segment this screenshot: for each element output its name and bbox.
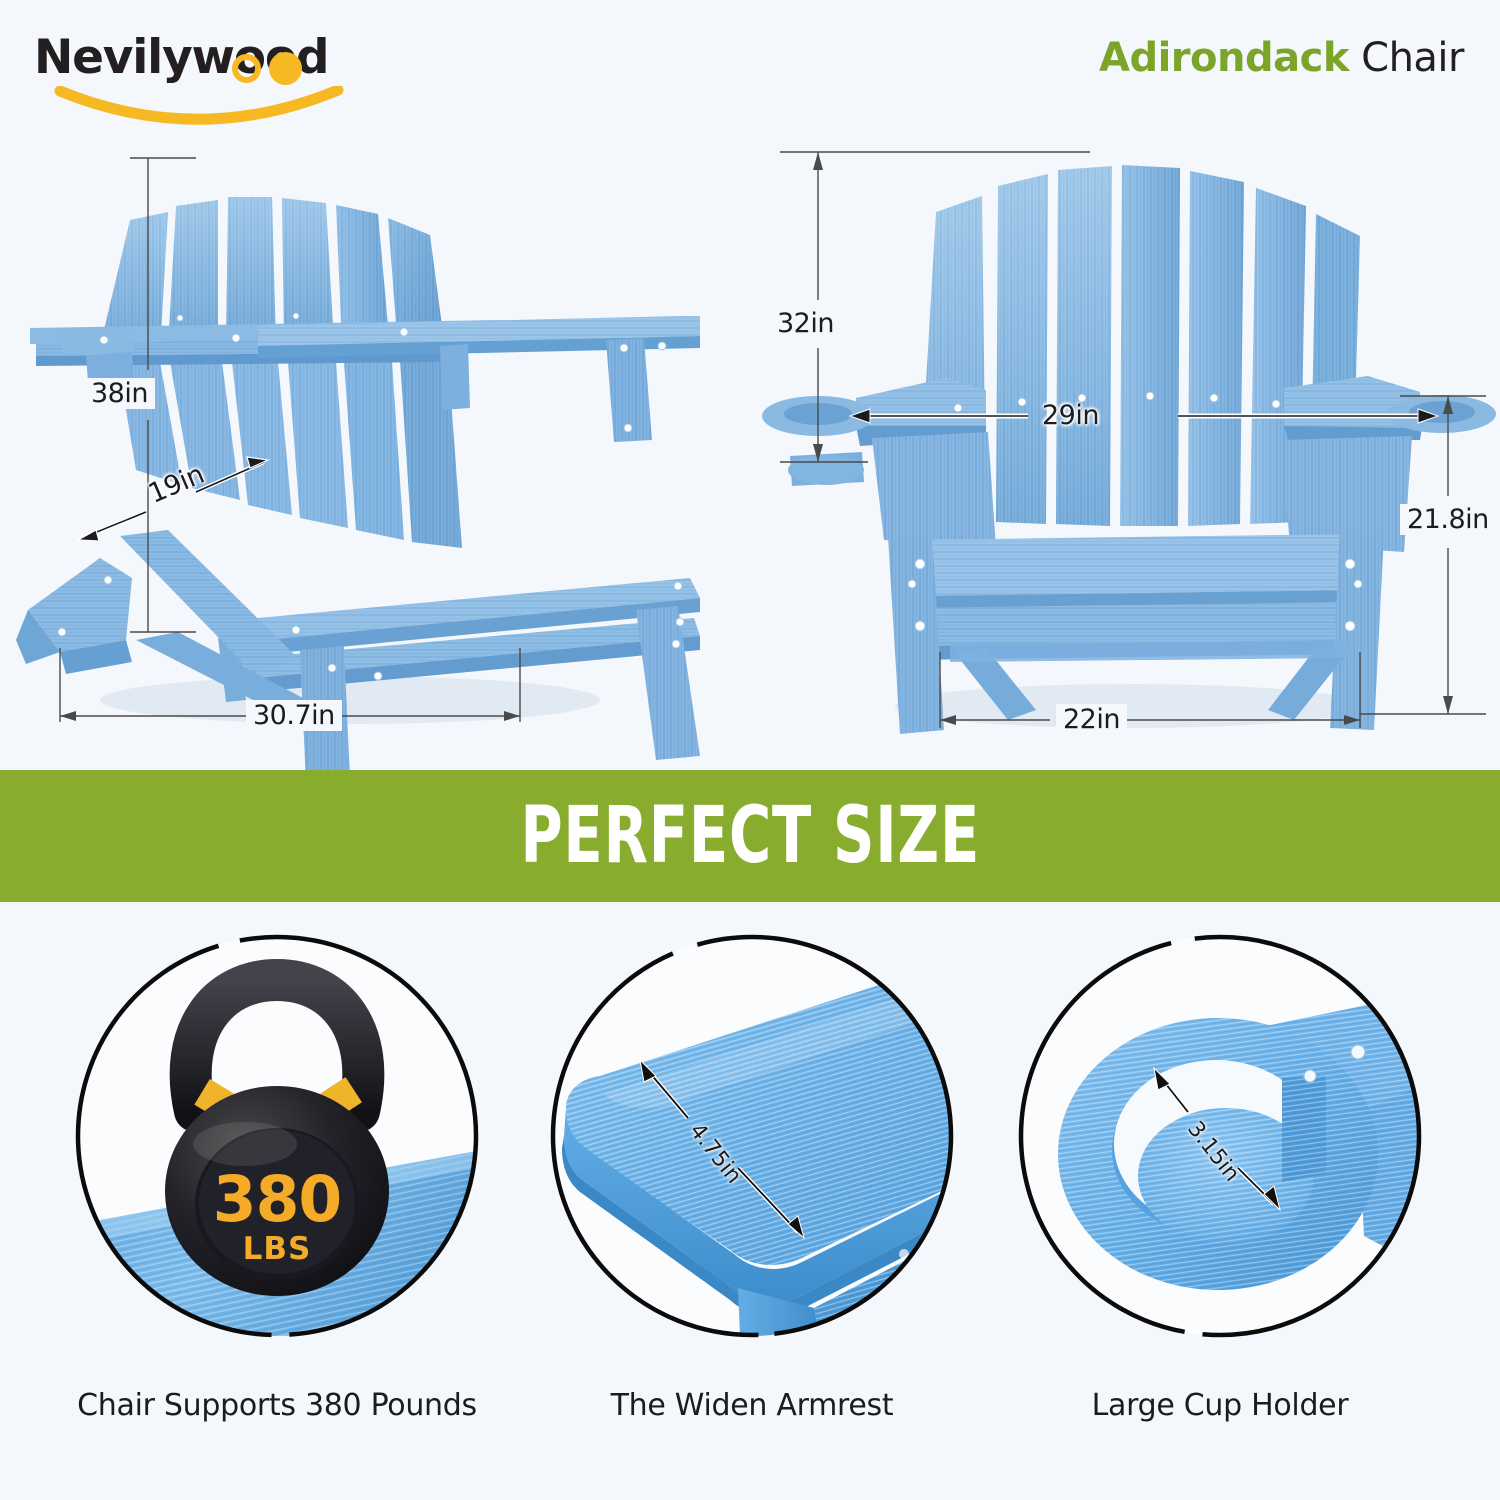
chair-front-view-cell: 32in 29in 21.8in 22in: [760, 140, 1500, 770]
feature-3-caption: Large Cup Holder: [985, 1388, 1455, 1423]
dimensions-panel: 38in 19in 30.7in: [0, 140, 1500, 770]
product-title-type: Chair: [1349, 35, 1464, 81]
feature-weight-capacity: 380 LBS Chair Supports 380 Pounds: [42, 936, 512, 1466]
brand-logo: Nevilywood: [34, 30, 364, 120]
feature-1-caption: Chair Supports 380 Pounds: [42, 1388, 512, 1423]
weight-number: 380: [77, 1168, 477, 1231]
feature-2-caption: The Widen Armrest: [517, 1388, 987, 1423]
feature-widen-armrest: 4.75in The Widen Armrest: [517, 936, 987, 1466]
dim-label-seat-height: 21.8in: [1400, 504, 1496, 535]
logo-o-filled-icon: [269, 52, 302, 85]
product-title: Adirondack Chair: [1099, 38, 1464, 78]
logo-smile-icon: [54, 86, 344, 128]
feature-cup-holder: 3.15in Large Cup Holder: [985, 936, 1455, 1466]
feature-3-image: [1020, 936, 1420, 1336]
feature-2-image: [552, 936, 952, 1336]
dim-label-height: 38in: [84, 378, 155, 409]
feature-1-circle: 380 LBS: [77, 936, 477, 1336]
features-section: 380 LBS Chair Supports 380 Pounds: [0, 902, 1500, 1500]
feature-3-circle: 3.15in: [1020, 936, 1420, 1336]
page-header: Nevilywood Adirondack Chair: [0, 0, 1500, 140]
banner-title: PERFECT SIZE: [520, 797, 980, 875]
feature-2-circle: 4.75in: [552, 936, 952, 1336]
perfect-size-banner: PERFECT SIZE: [0, 770, 1500, 902]
logo-o-ring-icon: [232, 54, 261, 83]
chair-side-view-cell: 38in 19in 30.7in: [0, 140, 760, 770]
product-title-name: Adirondack: [1099, 35, 1349, 81]
front-view-dimension-lines: [760, 140, 1500, 770]
dim-label-width: 22in: [1056, 704, 1127, 735]
side-view-dimension-lines: [0, 140, 760, 770]
feature-1-image: [77, 936, 477, 1336]
dim-label-back-height: 32in: [770, 308, 841, 339]
weight-unit: LBS: [77, 1234, 477, 1265]
dim-label-depth: 30.7in: [246, 700, 342, 731]
dim-label-armrest-width: 29in: [1042, 400, 1099, 431]
